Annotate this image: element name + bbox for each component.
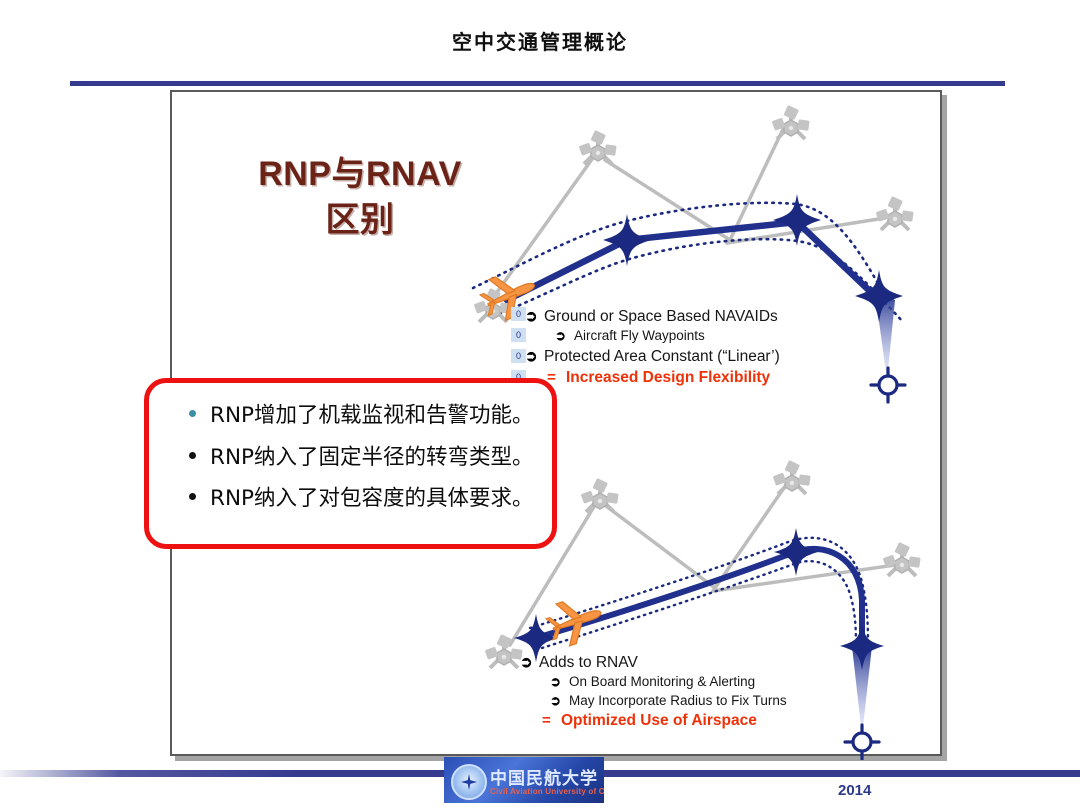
callout-bullet-item: RNP纳入了对包容度的具体要求。	[189, 488, 538, 510]
caption-row-result: = Increased Design Flexibility	[525, 367, 905, 388]
caption-text: Aircraft Fly Waypoints	[574, 327, 705, 345]
waypoint-star	[603, 214, 651, 266]
logo-emblem-icon	[451, 764, 487, 800]
caption-row: ➲ May Incorporate Radius to Fix Turns	[520, 692, 920, 710]
callout-bullet-item: RNP纳入了固定半径的转弯类型。	[189, 447, 538, 469]
caption-row: ➲ On Board Monitoring & Alerting	[520, 673, 920, 691]
university-logo: 中国民航大学 Civil Aviation University of Chin…	[444, 757, 604, 803]
slide-header: 空中交通管理概论	[0, 0, 1080, 72]
bullet-dot-icon	[189, 410, 196, 417]
caption-row-result: = Optimized Use of Airspace	[520, 710, 920, 731]
caption-row: ➲ Protected Area Constant (“Linear’)	[525, 346, 905, 367]
caption-text: May Incorporate Radius to Fix Turns	[569, 692, 787, 710]
page-title: 空中交通管理概论	[0, 26, 1080, 55]
navaid-icon	[876, 196, 914, 230]
header-divider	[70, 81, 1005, 86]
navaid-icon	[772, 105, 810, 139]
caption-text: Ground or Space Based NAVAIDs	[544, 306, 778, 327]
callout-text: RNP纳入了固定半径的转弯类型。	[210, 447, 534, 469]
caption-text: Optimized Use of Airspace	[561, 710, 757, 731]
caption-text: Increased Design Flexibility	[566, 367, 770, 388]
footer-year: 2014	[838, 782, 871, 799]
list-marker-artifact: 0	[511, 349, 526, 363]
callout-bullet-item: RNP增加了机载监视和告警功能。	[189, 405, 538, 427]
arrow-icon: ➲	[550, 692, 569, 710]
navaid-icon	[579, 130, 617, 164]
arrow-icon: ➲	[520, 653, 539, 673]
callout-text: RNP纳入了对包容度的具体要求。	[210, 488, 534, 510]
logo-chinese-name: 中国民航大学	[490, 764, 598, 789]
arrow-icon: ➲	[555, 327, 574, 345]
caption-text: Protected Area Constant (“Linear’)	[544, 346, 780, 367]
arrow-icon: ➲	[525, 307, 544, 327]
caption-row: ➲ Aircraft Fly Waypoints	[525, 327, 905, 345]
navaid-icon	[485, 634, 523, 668]
list-marker-artifact: 0	[511, 307, 526, 321]
caption-text: On Board Monitoring & Alerting	[569, 673, 755, 691]
red-callout-box: RNP增加了机载监视和告警功能。 RNP纳入了固定半径的转弯类型。 RNP纳入了…	[144, 378, 557, 549]
slide-heading-line1: RNP与RNAV	[258, 155, 462, 193]
caption-text: Adds to RNAV	[539, 652, 638, 673]
arrow-icon: ➲	[550, 673, 569, 691]
equals-icon: =	[542, 711, 561, 731]
caption-row: ➲ Adds to RNAV	[520, 652, 920, 673]
caption-row: ➲ Ground or Space Based NAVAIDs	[525, 306, 905, 327]
navaid-icon	[773, 460, 811, 494]
bullet-dot-icon	[189, 452, 196, 459]
list-marker-artifact: 0	[511, 328, 526, 342]
callout-text: RNP增加了机载监视和告警功能。	[210, 405, 534, 427]
arrow-icon: ➲	[525, 347, 544, 367]
rnp-caption-list: ➲ Adds to RNAV ➲ On Board Monitoring & A…	[520, 652, 920, 732]
rnav-caption-list: ➲ Ground or Space Based NAVAIDs ➲ Aircra…	[525, 306, 905, 389]
navaid-icon	[883, 542, 921, 576]
logo-english-name: Civil Aviation University of China	[490, 787, 604, 796]
bullet-dot-icon	[189, 493, 196, 500]
navaid-icon	[581, 478, 619, 512]
